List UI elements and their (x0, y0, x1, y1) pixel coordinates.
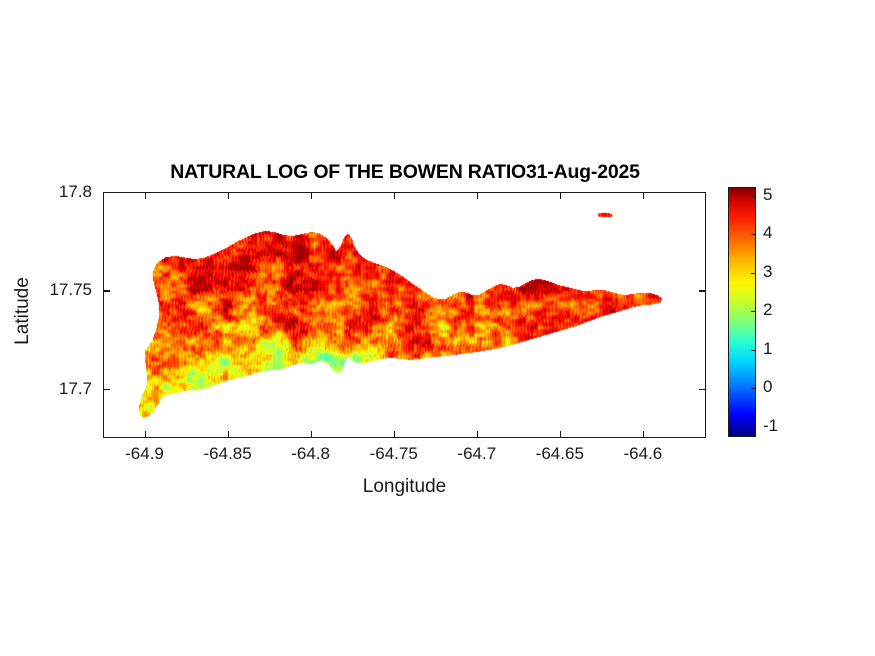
colorbar-tick-mark (751, 427, 756, 428)
y-tick-label: 17.8 (59, 182, 92, 202)
x-tick-mark (560, 192, 561, 199)
figure-canvas: NATURAL LOG OF THE BOWEN RATIO31-Aug-202… (0, 0, 875, 656)
colorbar[interactable] (728, 187, 756, 437)
y-tick-label: 17.7 (59, 379, 92, 399)
colorbar-tick-label: 0 (763, 377, 772, 397)
colorbar-tick-mark (751, 273, 756, 274)
x-tick-mark (643, 192, 644, 199)
x-tick-mark (311, 192, 312, 199)
x-tick-mark (643, 431, 644, 438)
colorbar-tick-mark (751, 350, 756, 351)
y-tick-mark (103, 290, 110, 291)
colorbar-tick-mark (751, 196, 756, 197)
x-tick-mark (560, 431, 561, 438)
bowen-ratio-heatmap (104, 193, 705, 437)
x-tick-mark (145, 431, 146, 438)
x-tick-mark (228, 192, 229, 199)
x-tick-label: -64.75 (370, 444, 418, 464)
x-tick-label: -64.65 (536, 444, 584, 464)
colorbar-tick-label: -1 (763, 416, 778, 436)
map-axes[interactable] (103, 192, 706, 438)
colorbar-tick-label: 3 (763, 262, 772, 282)
y-tick-label: 17.75 (49, 280, 92, 300)
y-tick-mark (699, 389, 706, 390)
x-tick-mark (311, 431, 312, 438)
x-tick-label: -64.7 (457, 444, 496, 464)
colorbar-tick-mark (751, 234, 756, 235)
colorbar-gradient (728, 187, 756, 437)
x-tick-mark (477, 192, 478, 199)
x-tick-mark (394, 192, 395, 199)
colorbar-tick-mark (751, 311, 756, 312)
x-tick-label: -64.8 (291, 444, 330, 464)
y-axis-label: Latitude (12, 266, 34, 356)
x-tick-mark (477, 431, 478, 438)
colorbar-tick-label: 2 (763, 300, 772, 320)
y-tick-mark (103, 389, 110, 390)
colorbar-tick-label: 5 (763, 185, 772, 205)
y-tick-mark (699, 192, 706, 193)
colorbar-tick-mark (751, 388, 756, 389)
colorbar-tick-label: 1 (763, 339, 772, 359)
y-tick-mark (103, 192, 110, 193)
x-tick-label: -64.85 (203, 444, 251, 464)
x-tick-label: -64.6 (624, 444, 663, 464)
x-tick-mark (394, 431, 395, 438)
x-tick-label: -64.9 (125, 444, 164, 464)
y-tick-mark (699, 290, 706, 291)
page-title: NATURAL LOG OF THE BOWEN RATIO31-Aug-202… (103, 161, 707, 184)
colorbar-tick-label: 4 (763, 223, 772, 243)
x-tick-mark (145, 192, 146, 199)
x-axis-label: Longitude (103, 476, 706, 498)
x-tick-mark (228, 431, 229, 438)
